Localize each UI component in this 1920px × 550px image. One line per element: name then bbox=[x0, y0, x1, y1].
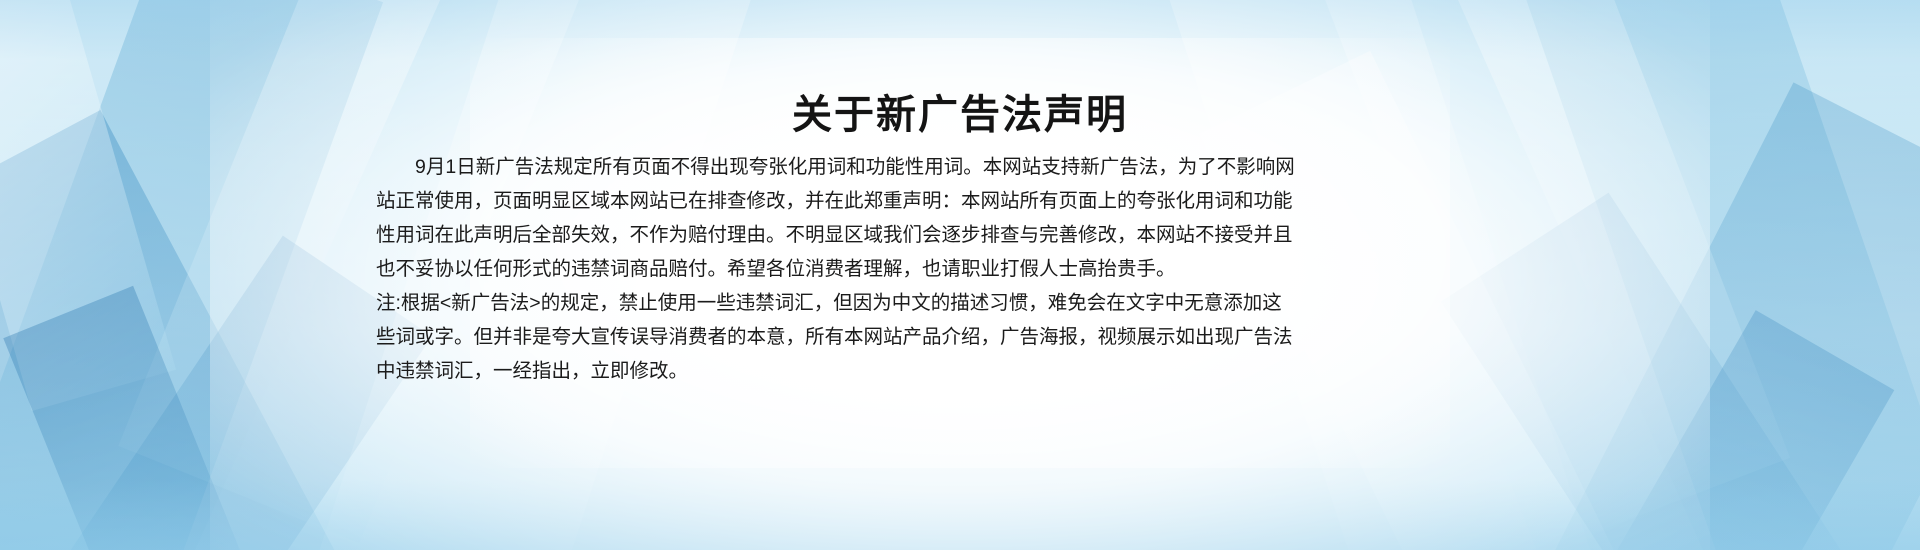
statement-content: 关于新广告法声明 9月1日新广告法规定所有页面不得出现夸张化用词和功能性用词。本… bbox=[0, 0, 1920, 550]
statement-line: 些词或字。但并非是夸大宣传误导消费者的本意，所有本网站产品介绍，广告海报，视频展… bbox=[376, 320, 1504, 354]
statement-line: 9月1日新广告法规定所有页面不得出现夸张化用词和功能性用词。本网站支持新广告法，… bbox=[376, 150, 1504, 184]
statement-line: 中违禁词汇，一经指出，立即修改。 bbox=[376, 354, 1504, 388]
statement-line: 也不妥协以任何形式的违禁词商品赔付。希望各位消费者理解，也请职业打假人士高抬贵手… bbox=[376, 252, 1504, 286]
statement-line: 性用词在此声明后全部失效，不作为赔付理由。不明显区域我们会逐步排查与完善修改，本… bbox=[376, 218, 1504, 252]
page-title: 关于新广告法声明 bbox=[0, 93, 1920, 137]
statement-body: 9月1日新广告法规定所有页面不得出现夸张化用词和功能性用词。本网站支持新广告法，… bbox=[376, 150, 1504, 388]
statement-line: 站正常使用，页面明显区域本网站已在排查修改，并在此郑重声明：本网站所有页面上的夸… bbox=[376, 184, 1504, 218]
advertising-law-statement-banner: 关于新广告法声明 9月1日新广告法规定所有页面不得出现夸张化用词和功能性用词。本… bbox=[0, 0, 1920, 550]
statement-line: 注:根据<新广告法>的规定，禁止使用一些违禁词汇，但因为中文的描述习惯，难免会在… bbox=[376, 286, 1504, 320]
